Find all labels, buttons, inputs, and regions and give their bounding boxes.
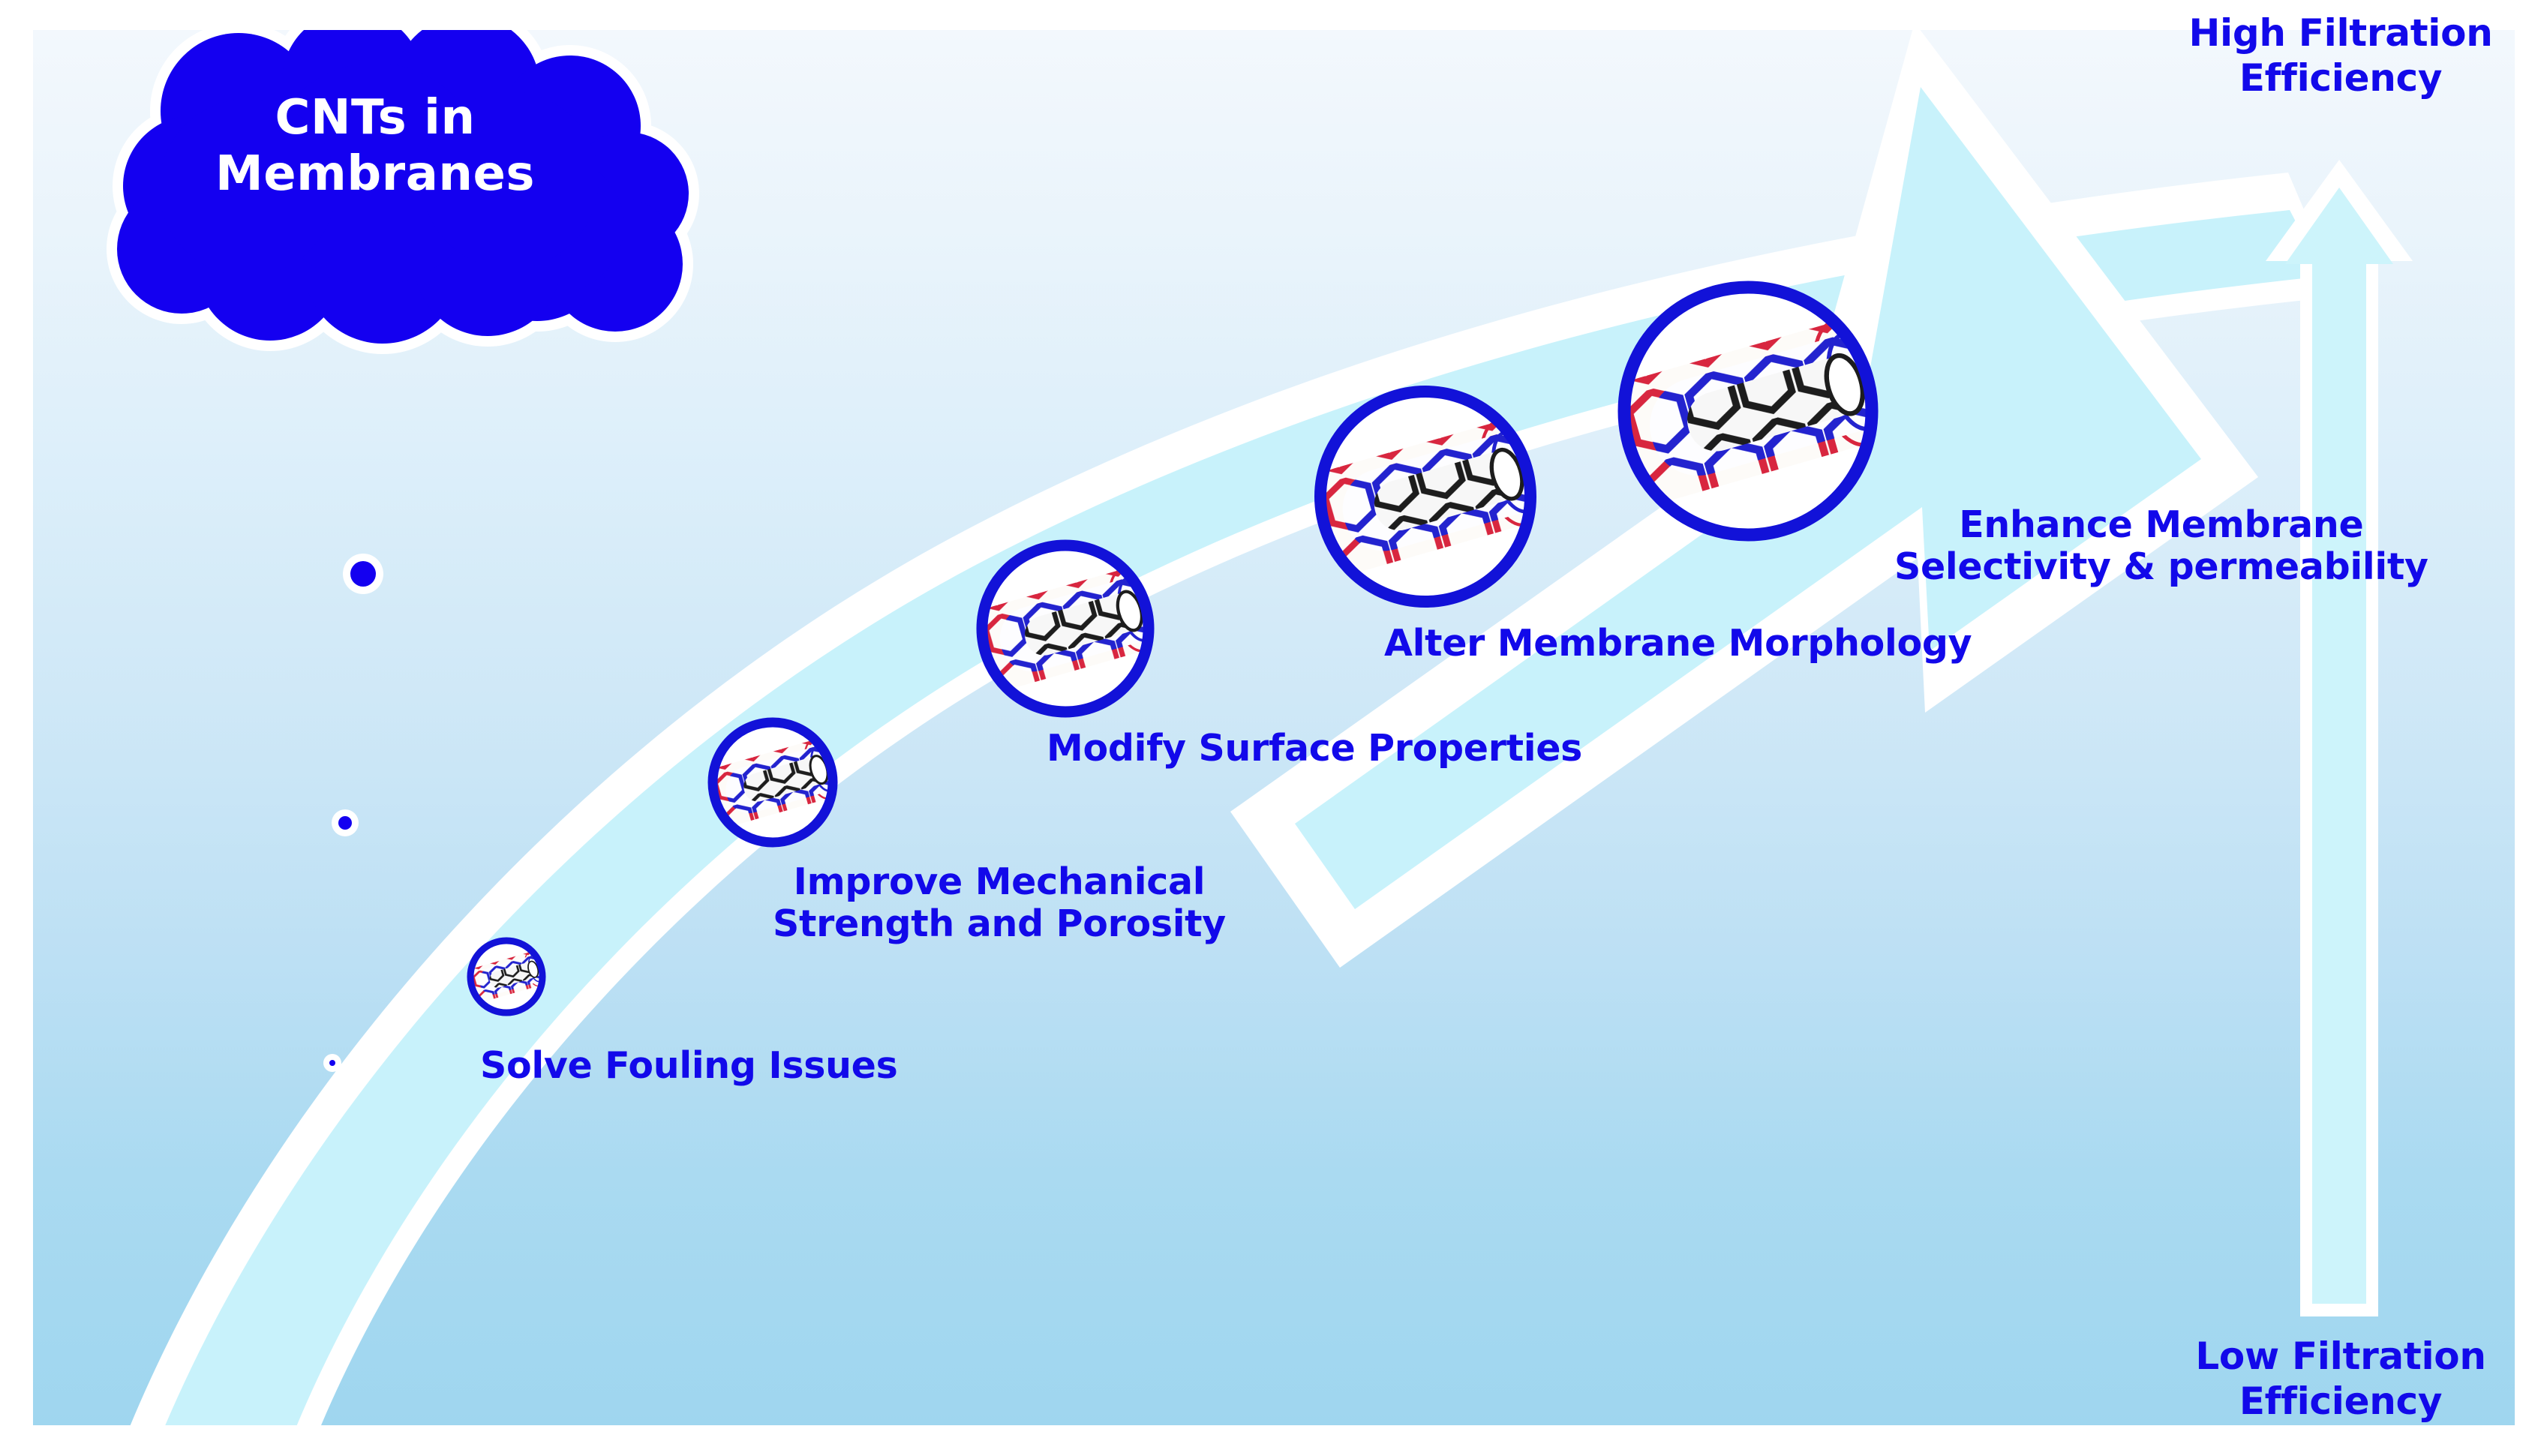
low-filtration-efficiency-label: Low Filtration Efficiency [2161, 1334, 2521, 1424]
size-indicator-dot-1 [343, 554, 383, 594]
high-filtration-efficiency-label: High Filtration Efficiency [2161, 11, 2521, 101]
size-indicator-dot-2 [332, 809, 359, 836]
stage-label-improve-mechanical-strength[interactable]: Improve Mechanical Strength and Porosity [773, 861, 1226, 945]
efficiency-axis-arrow [2266, 160, 2413, 1316]
cloud-callout-shape [107, 0, 699, 354]
stage-label-solve-fouling-issues[interactable]: Solve Fouling Issues [480, 1045, 897, 1087]
stage-label-enhance-membrane-selectivity[interactable]: Enhance Membrane Selectivity & permeabil… [1894, 504, 2428, 588]
stage-label-modify-surface-properties[interactable]: Modify Surface Properties [1047, 728, 1582, 770]
size-indicator-dot-3 [323, 1054, 341, 1072]
stage-label-alter-membrane-morphology[interactable]: Alter Membrane Morphology [1384, 623, 1972, 665]
infographic-canvas: CNTs in Membranes Solve Fouling Issues I… [0, 0, 2547, 1456]
